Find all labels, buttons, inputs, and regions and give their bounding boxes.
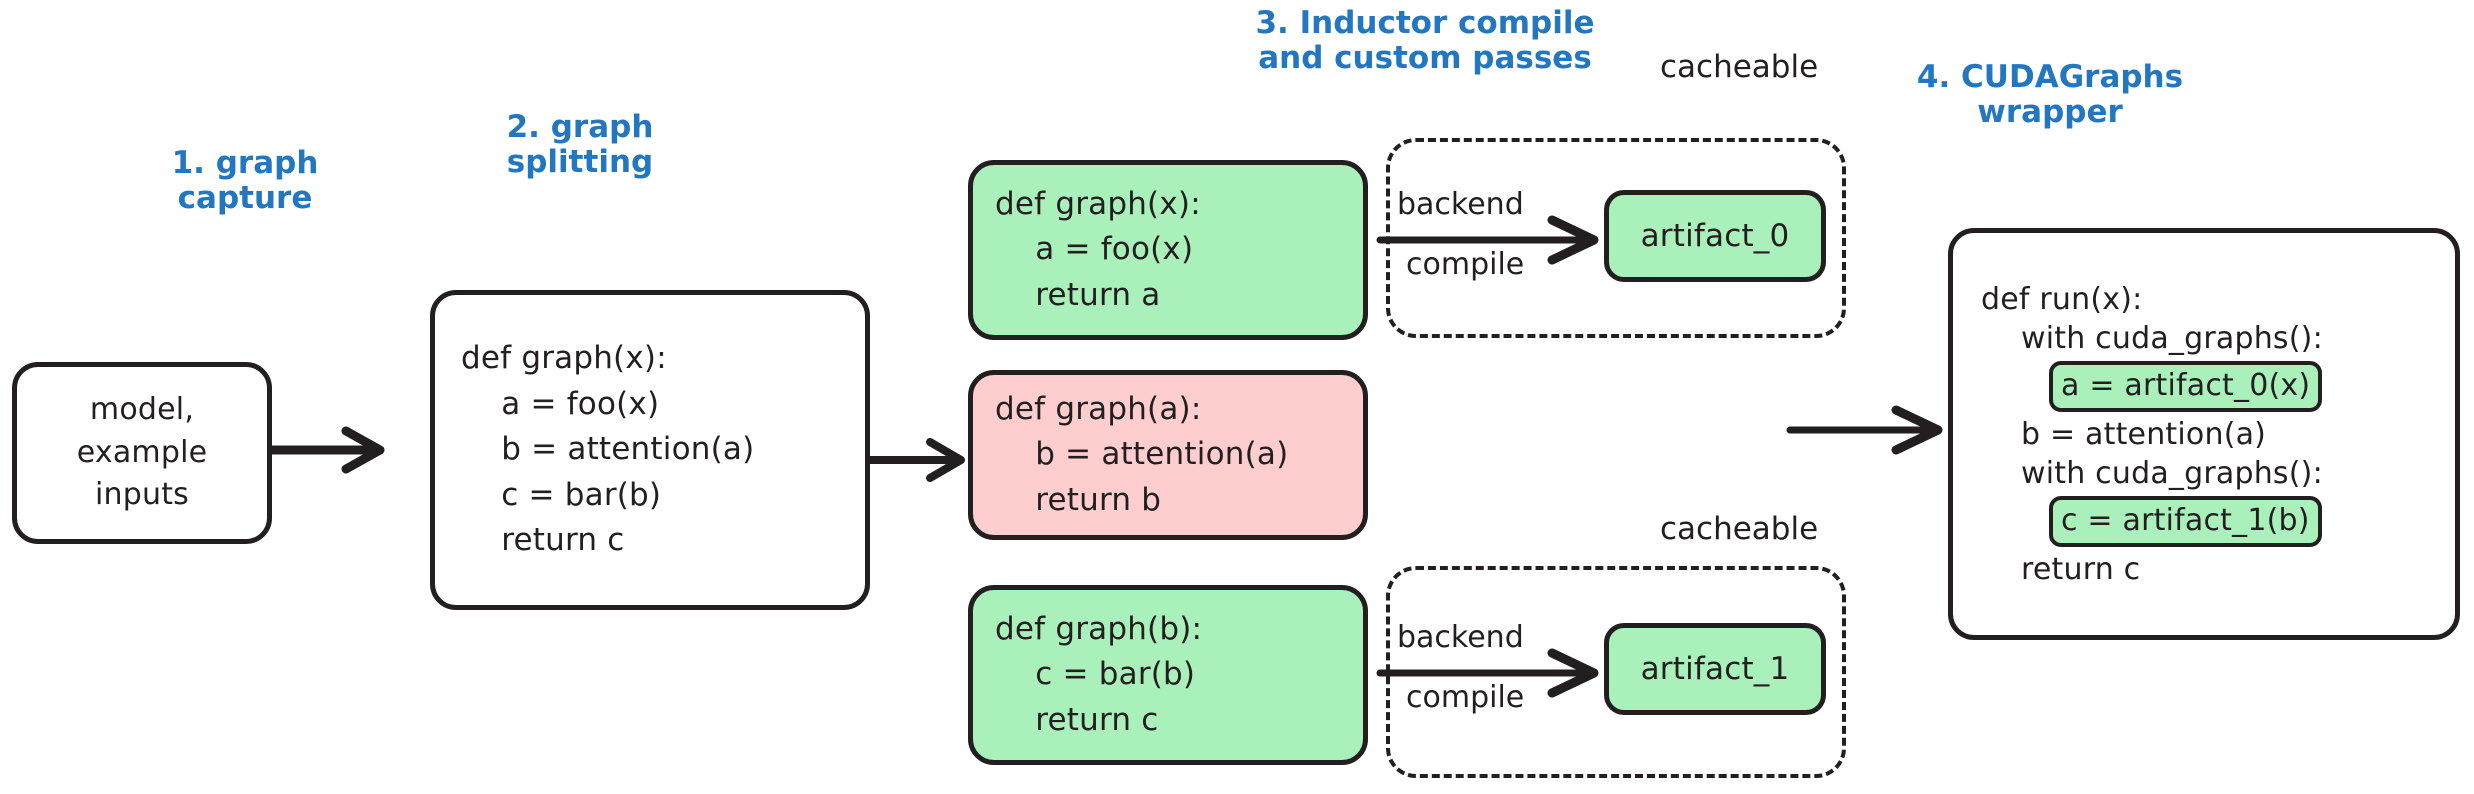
captured-graph-line-3: b = attention(a) — [461, 427, 839, 473]
arrow-label-compile-0: compile — [1406, 248, 1524, 281]
input-node: model, example inputs — [12, 362, 272, 544]
subgraph-0-node: def graph(x): a = foo(x) return a — [968, 160, 1368, 340]
input-node-line-3: inputs — [95, 474, 189, 517]
arrow-label-backend-0: backend — [1397, 188, 1524, 221]
cacheable-caption-1: cacheable — [1660, 512, 1818, 546]
arrow-to-runtime-wrapper — [1786, 405, 1956, 455]
captured-graph-node: def graph(x): a = foo(x) b = attention(a… — [430, 290, 870, 610]
stage-label-4: 4. CUDAGraphs wrapper — [1860, 60, 2240, 129]
captured-graph-line-2: a = foo(x) — [461, 382, 839, 428]
stage-label-2: 2. graph splitting — [480, 110, 680, 179]
subgraph-0-line-2: a = foo(x) — [995, 227, 1341, 272]
stage-label-3: 3. Inductor compile and custom passes — [1210, 6, 1640, 75]
captured-graph-line-5: return c — [461, 518, 839, 564]
runtime-line-3-wrap: a = artifact_0(x) — [2049, 361, 2427, 412]
subgraph-0-line-1: def graph(x): — [995, 182, 1341, 227]
runtime-line-3-highlight: a = artifact_0(x) — [2049, 361, 2322, 412]
diagram-canvas: 1. graph capture 2. graph splitting 3. I… — [0, 0, 2474, 794]
runtime-line-5: with cuda_graphs(): — [2021, 454, 2427, 493]
runtime-line-7: return c — [2021, 550, 2427, 589]
subgraph-attention-line-2: b = attention(a) — [995, 432, 1341, 477]
captured-graph-line-4: c = bar(b) — [461, 473, 839, 519]
subgraph-attention-node: def graph(a): b = attention(a) return b — [968, 370, 1368, 540]
subgraph-1-line-2: c = bar(b) — [995, 652, 1341, 697]
arrow-graph-to-subgraphs — [866, 435, 976, 485]
artifact-1-label: artifact_1 — [1641, 651, 1790, 687]
input-node-line-2: example — [77, 432, 208, 475]
subgraph-1-node: def graph(b): c = bar(b) return c — [968, 585, 1368, 765]
input-node-line-1: model, — [90, 389, 194, 432]
artifact-0-label: artifact_0 — [1641, 218, 1790, 254]
runtime-line-2: with cuda_graphs(): — [2021, 319, 2427, 358]
stage-label-1: 1. graph capture — [150, 146, 340, 215]
runtime-line-4: b = attention(a) — [2021, 415, 2427, 454]
arrow-label-backend-1: backend — [1397, 621, 1524, 654]
arrow-input-to-graph — [268, 425, 398, 475]
runtime-wrapper-node: def run(x): with cuda_graphs(): a = arti… — [1948, 228, 2460, 640]
runtime-line-1: def run(x): — [1981, 280, 2427, 319]
subgraph-attention-line-3: return b — [995, 478, 1341, 523]
subgraph-0-line-3: return a — [995, 273, 1341, 318]
runtime-line-6-highlight: c = artifact_1(b) — [2049, 496, 2322, 547]
subgraph-1-line-1: def graph(b): — [995, 607, 1341, 652]
captured-graph-line-1: def graph(x): — [461, 336, 839, 382]
cacheable-caption-0: cacheable — [1660, 50, 1818, 84]
subgraph-1-line-3: return c — [995, 698, 1341, 743]
artifact-1-node: artifact_1 — [1604, 623, 1826, 715]
artifact-0-node: artifact_0 — [1604, 190, 1826, 282]
runtime-line-6-wrap: c = artifact_1(b) — [2049, 496, 2427, 547]
subgraph-attention-line-1: def graph(a): — [995, 387, 1341, 432]
arrow-label-compile-1: compile — [1406, 681, 1524, 714]
